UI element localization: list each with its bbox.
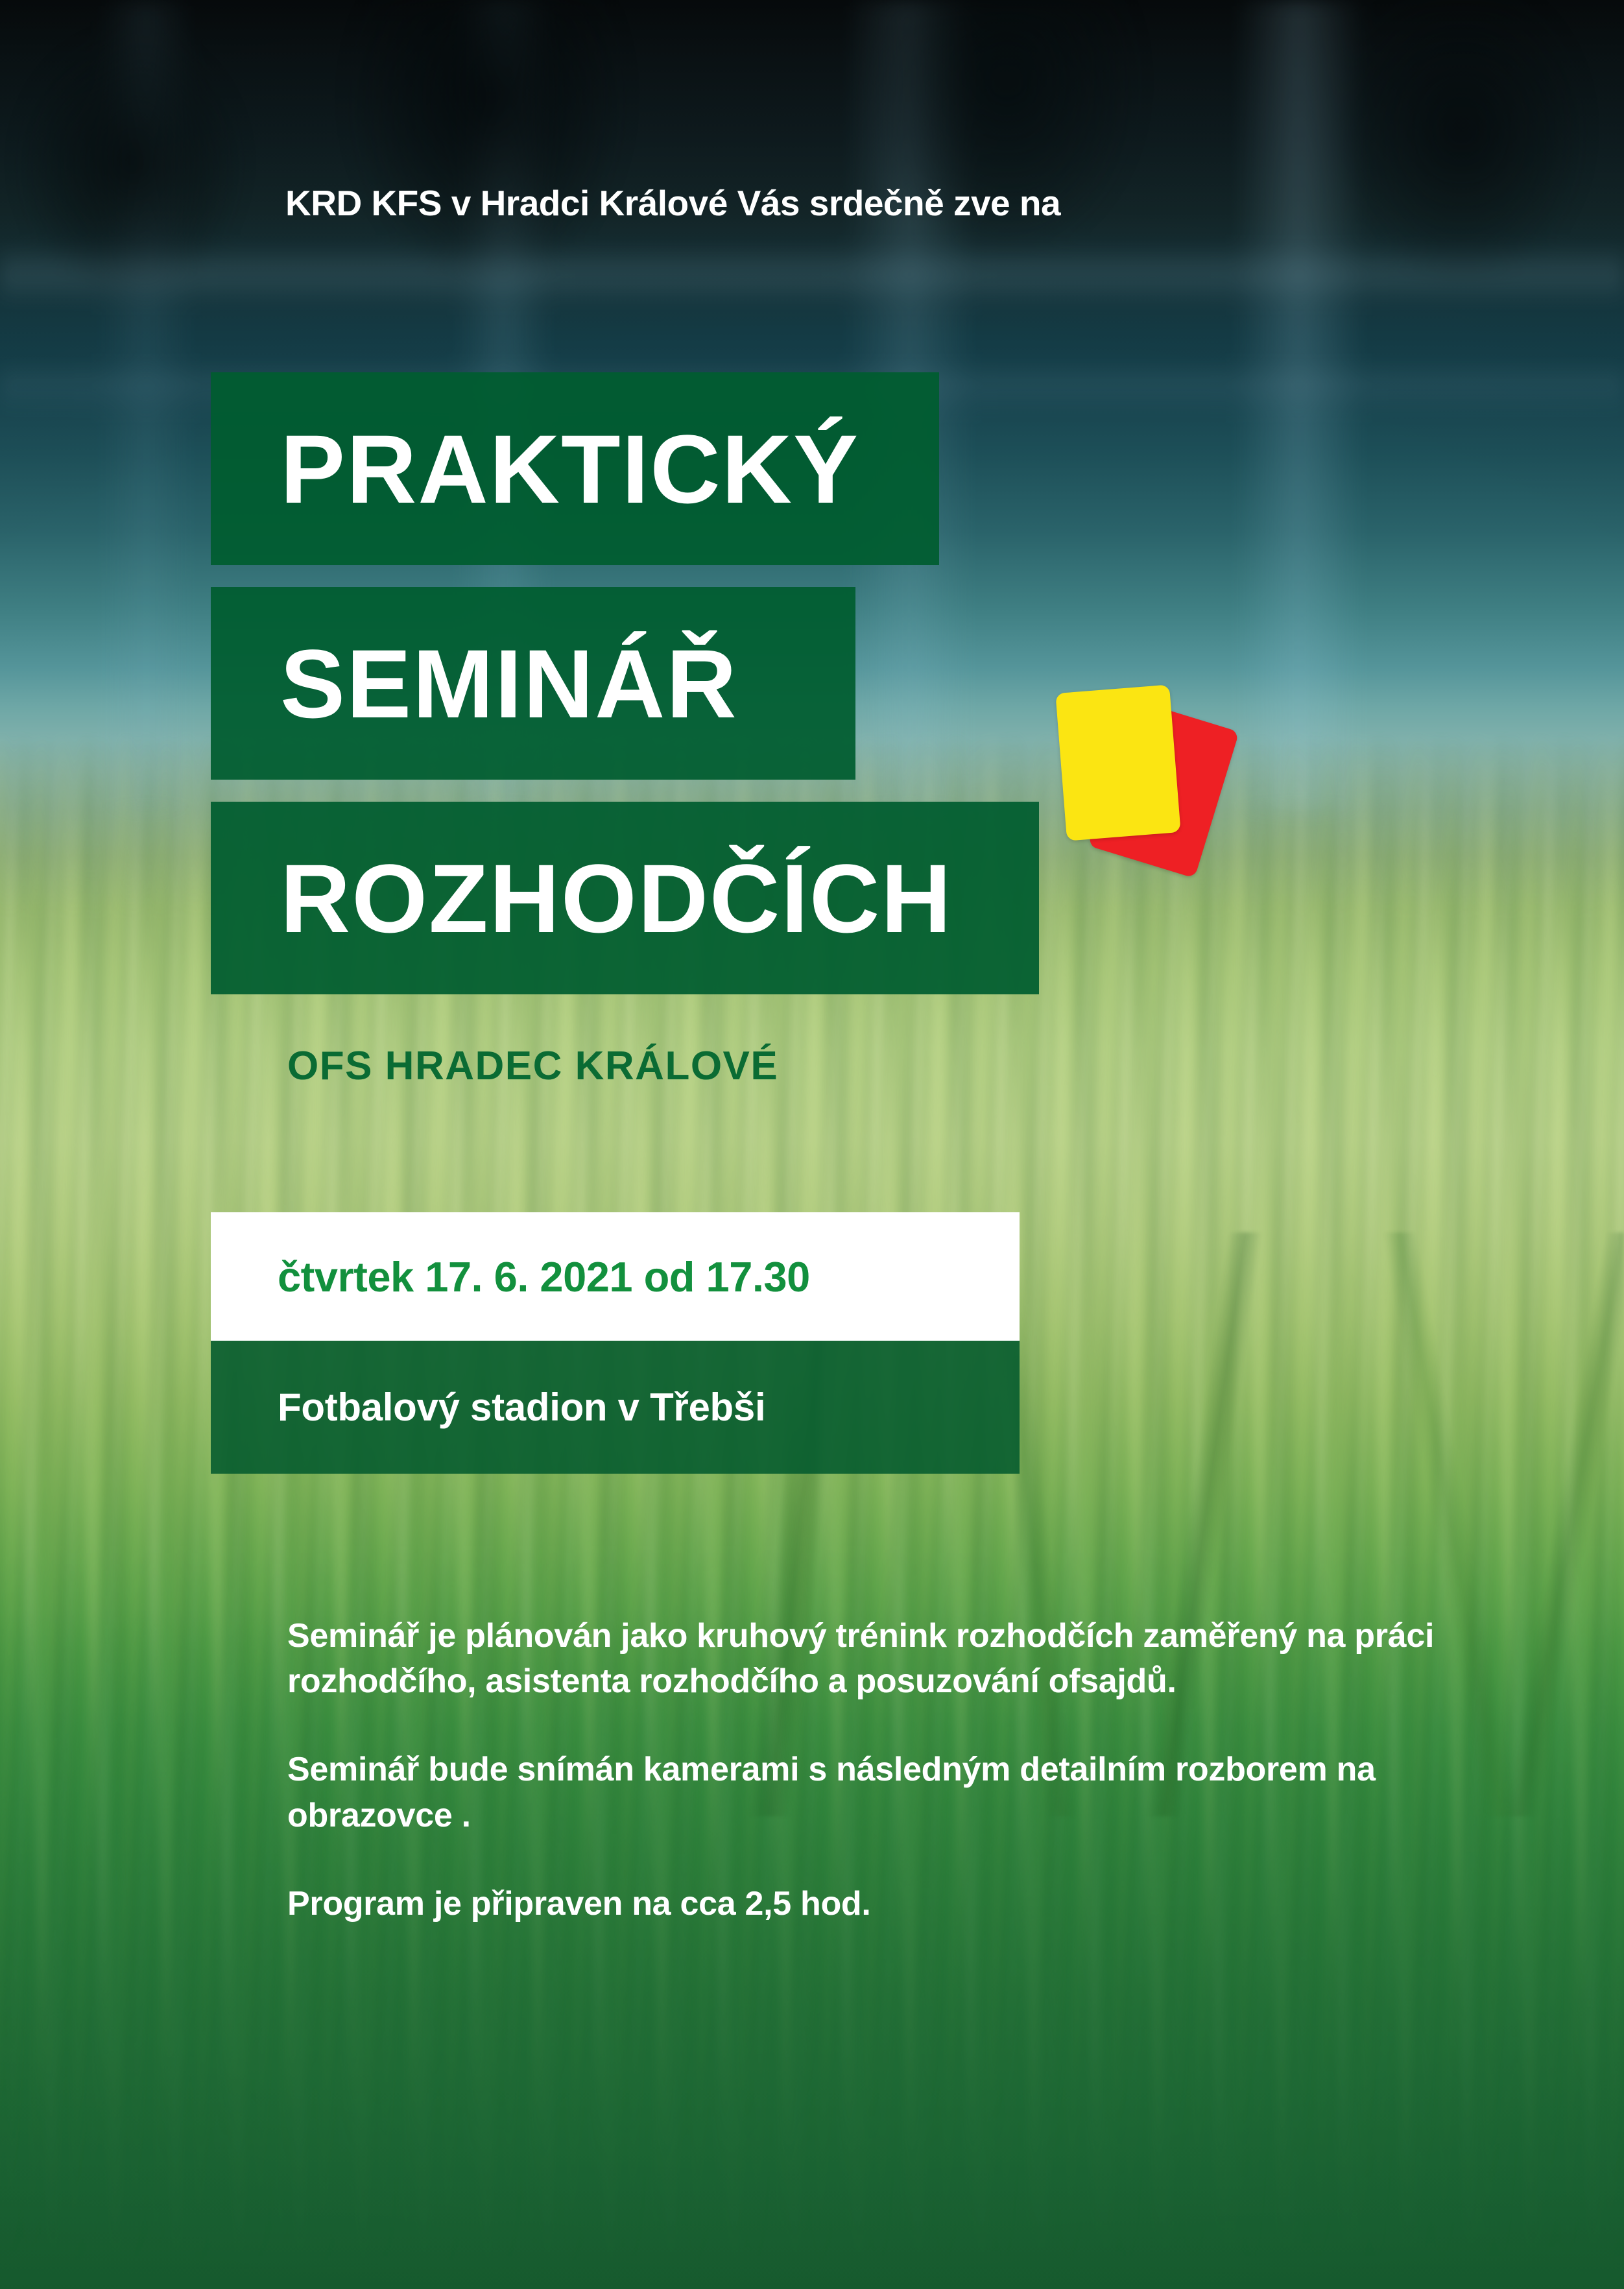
paragraph-1: Seminář je plánován jako kruhový trénink… [287,1613,1455,1704]
date-box: čtvrtek 17. 6. 2021 od 17.30 [211,1212,1020,1341]
invitation-kicker: KRD KFS v Hradci Králové Vás srdečně zve… [285,182,1060,224]
paragraph-2: Seminář bude snímán kamerami s následným… [287,1747,1455,1838]
organiser-subtitle: OFS HRADEC KRÁLOVÉ [287,1043,778,1089]
poster-root: KRD KFS v Hradci Králové Vás srdečně zve… [0,0,1624,2289]
title-band-seminar: SEMINÁŘ [211,587,855,780]
description-text: Seminář je plánován jako kruhový trénink… [287,1613,1455,1926]
referee-cards-graphic [1047,675,1241,876]
title-line-1: PRAKTICKÝ [280,420,859,518]
venue-box: Fotbalový stadion v Třebši [211,1341,1020,1474]
title-band-praktricky: PRAKTICKÝ [211,372,939,565]
poster-content: KRD KFS v Hradci Králové Vás srdečně zve… [0,0,1624,2289]
event-date-time: čtvrtek 17. 6. 2021 od 17.30 [211,1252,810,1301]
paragraph-3: Program je připraven na cca 2,5 hod. [287,1881,1455,1926]
yellow-card-icon [1055,684,1180,841]
title-band-rozhodcich: ROZHODČÍCH [211,802,1039,994]
title-line-3: ROZHODČÍCH [280,850,953,947]
event-venue: Fotbalový stadion v Třebši [211,1385,765,1430]
title-line-2: SEMINÁŘ [280,635,738,732]
